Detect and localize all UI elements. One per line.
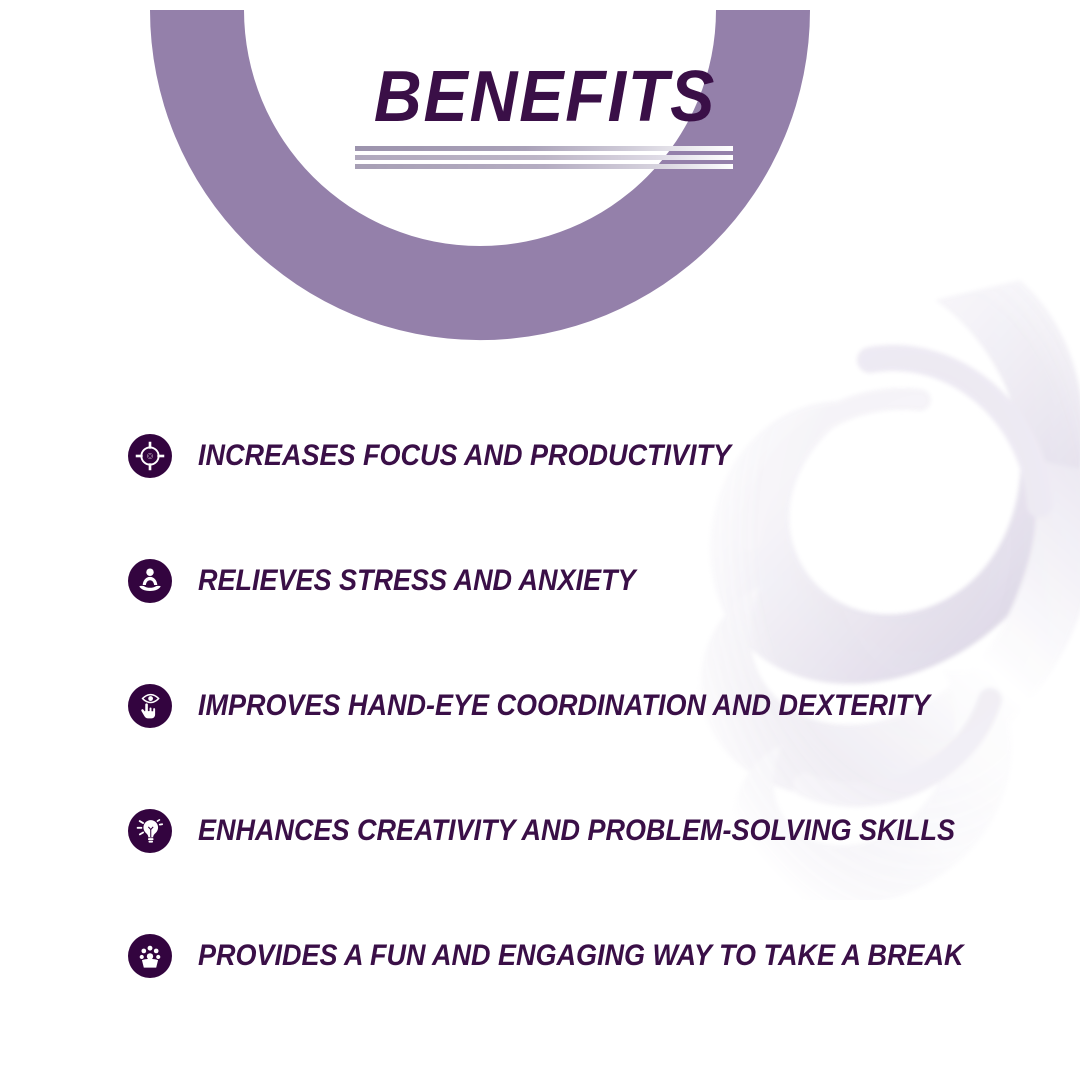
page-title-text: BENEFITS (370, 58, 720, 136)
list-item: RELIEVES STRESS AND ANXIETY (128, 550, 958, 612)
list-item-label: PROVIDES A FUN AND ENGAGING WAY TO TAKE … (198, 939, 964, 973)
list-item-label: ENHANCES CREATIVITY AND PROBLEM-SOLVING … (198, 814, 955, 848)
list-item-label: INCREASES FOCUS AND PRODUCTIVITY (198, 439, 731, 473)
meditating-person-icon (128, 559, 172, 603)
page-title: BENEFITS (355, 58, 735, 136)
eye-hand-pointer-icon (128, 684, 172, 728)
benefits-list: INCREASES FOCUS AND PRODUCTIVITY RELIEVE… (128, 425, 958, 987)
divider-line-3 (355, 164, 733, 169)
list-item: PROVIDES A FUN AND ENGAGING WAY TO TAKE … (128, 925, 958, 987)
list-item: IMPROVES HAND-EYE COORDINATION AND DEXTE… (128, 675, 958, 737)
list-item: INCREASES FOCUS AND PRODUCTIVITY (128, 425, 958, 487)
hand-sparkle-icon (128, 934, 172, 978)
divider-line-1 (355, 146, 733, 151)
target-crosshair-icon (128, 434, 172, 478)
poster-canvas: BENEFITS (0, 0, 1080, 1080)
list-item-label: IMPROVES HAND-EYE COORDINATION AND DEXTE… (198, 689, 930, 723)
divider-line-2 (355, 155, 733, 160)
list-item: ENHANCES CREATIVITY AND PROBLEM-SOLVING … (128, 800, 958, 862)
list-item-label: RELIEVES STRESS AND ANXIETY (198, 564, 636, 598)
title-divider-lines (355, 146, 733, 172)
lightbulb-idea-icon (128, 809, 172, 853)
